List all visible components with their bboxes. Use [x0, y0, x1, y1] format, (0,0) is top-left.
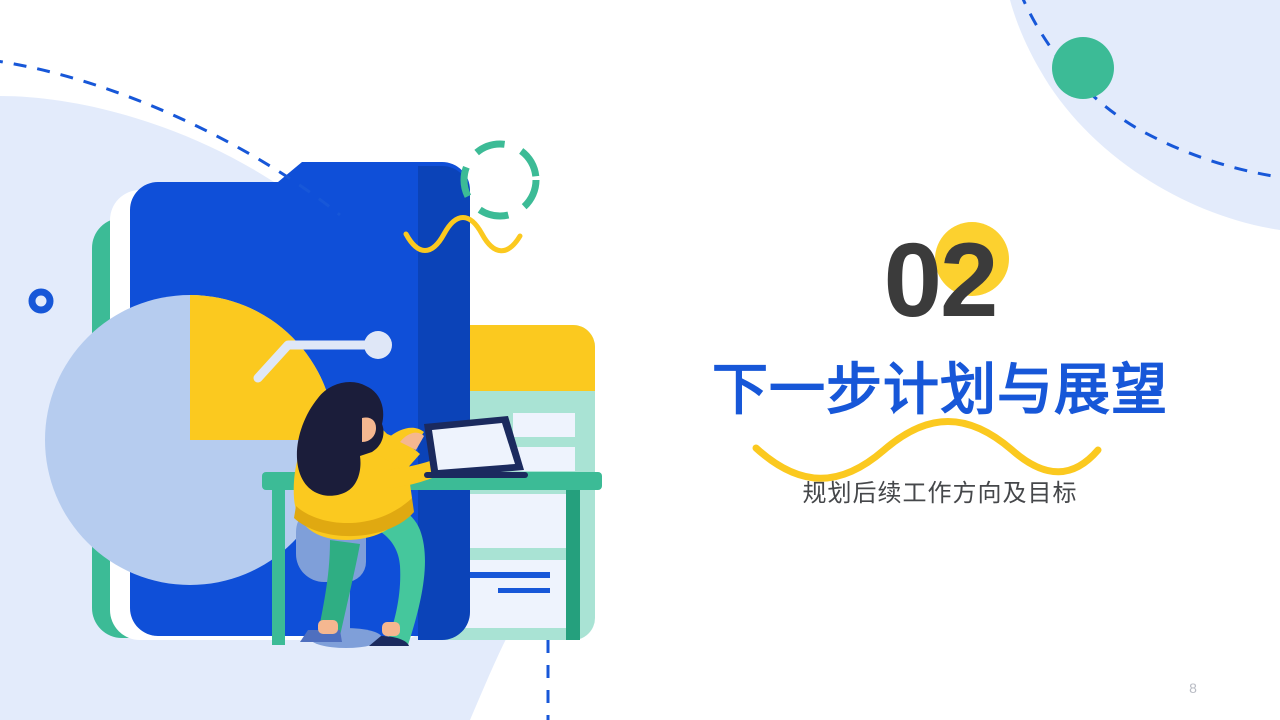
page-subtitle: 规划后续工作方向及目标 — [640, 478, 1240, 510]
blue-dashed-curve — [0, 60, 340, 215]
blue-ring-outline — [32, 292, 50, 310]
section-text-block: 02 下一步计划与展望 规划后续工作方向及目标 — [640, 228, 1240, 548]
page-title: 下一步计划与展望 — [640, 359, 1240, 421]
green-filled-circle — [1052, 37, 1114, 99]
section-number: 02 — [640, 228, 1240, 333]
yellow-wavy-line — [406, 218, 520, 251]
blue-dashed-curve — [1020, 0, 1280, 178]
presentation-slide: 02 下一步计划与展望 规划后续工作方向及目标 8 — [0, 0, 1280, 720]
page-number: 8 — [1176, 678, 1210, 698]
green-dashed-circle — [464, 144, 536, 216]
